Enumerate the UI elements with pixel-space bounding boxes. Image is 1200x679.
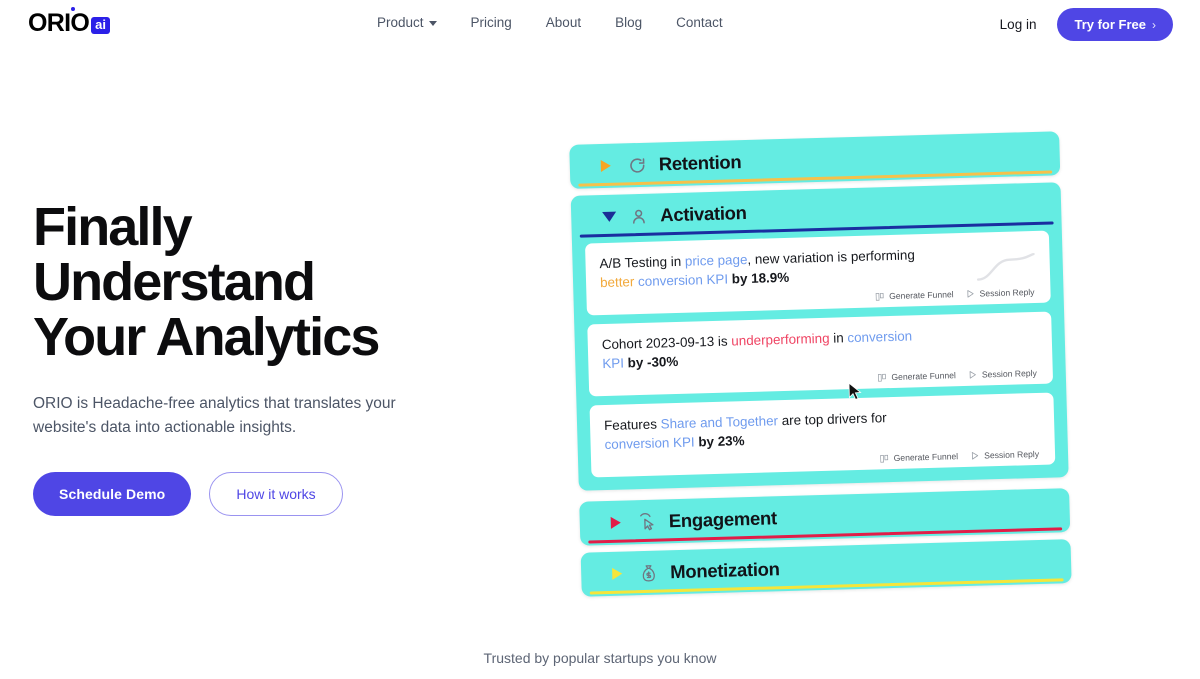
session-reply-action[interactable]: Session Reply xyxy=(969,368,1037,380)
logo-i-dot xyxy=(71,7,76,12)
generate-funnel-action[interactable]: Generate Funnel xyxy=(875,289,954,301)
cursor-click-icon xyxy=(635,511,658,534)
generate-funnel-action[interactable]: Generate Funnel xyxy=(877,370,956,382)
triangle-right-icon xyxy=(611,517,621,529)
nav-item-about[interactable]: About xyxy=(546,15,581,30)
funnel-columns-icon xyxy=(877,373,886,382)
accordion-header-retention[interactable]: Retention xyxy=(569,131,1060,189)
nav-item-product-label: Product xyxy=(377,15,424,30)
logo[interactable]: ORIO ai xyxy=(28,11,110,36)
seg-link[interactable]: Share and Together xyxy=(660,413,778,431)
headline-line-3: Your Analytics xyxy=(33,307,379,367)
seg: Features xyxy=(604,416,661,433)
trusted-by-text: Trusted by popular startups you know xyxy=(0,650,1200,666)
seg-bold: by 23% xyxy=(694,433,744,449)
top-navigation-bar: ORIO ai Product Pricing About Blog Conta… xyxy=(0,0,1200,48)
hero-left-column: Finally Understand Your Analytics ORIO i… xyxy=(33,200,513,516)
refresh-icon xyxy=(626,154,649,177)
session-reply-label: Session Reply xyxy=(982,368,1037,380)
insight-card[interactable]: Features Share and Together are top driv… xyxy=(590,393,1056,478)
generate-funnel-action[interactable]: Generate Funnel xyxy=(880,451,959,463)
accordion-title-monetization: Monetization xyxy=(670,558,780,583)
seg: A/B Testing in xyxy=(599,254,685,271)
insight-card-text: Cohort 2023-09-13 is underperforming in … xyxy=(602,327,933,373)
generate-funnel-label: Generate Funnel xyxy=(891,370,956,382)
headline-line-2: Understand xyxy=(33,252,314,312)
generate-funnel-label: Generate Funnel xyxy=(889,289,954,301)
seg-highlight: better xyxy=(600,274,635,290)
try-for-free-button[interactable]: Try for Free › xyxy=(1057,8,1173,41)
how-it-works-button[interactable]: How it works xyxy=(209,472,342,516)
triangle-right-icon xyxy=(612,568,622,580)
hero-subheading: ORIO is Headache-free analytics that tra… xyxy=(33,392,423,439)
accordion-title-retention: Retention xyxy=(659,151,742,175)
accordion-title-engagement: Engagement xyxy=(668,507,777,532)
nav-item-blog[interactable]: Blog xyxy=(615,15,642,30)
try-for-free-label: Try for Free xyxy=(1074,17,1146,32)
play-triangle-icon xyxy=(969,371,977,379)
insight-card-text: Features Share and Together are top driv… xyxy=(604,408,935,454)
play-triangle-icon xyxy=(971,452,979,460)
seg-bold: by -30% xyxy=(624,353,679,370)
sparkline-icon xyxy=(975,253,1036,285)
seg: Cohort 2023-09-13 is xyxy=(602,333,732,352)
triangle-right-icon xyxy=(601,160,611,172)
nav-links: Product Pricing About Blog Contact xyxy=(377,15,723,30)
seg: , new variation is performing xyxy=(747,247,915,267)
accordion-section-activation[interactable]: Activation A/B Testing in price page, ne… xyxy=(571,182,1069,491)
nav-item-contact[interactable]: Contact xyxy=(676,15,723,30)
logo-wordmark: ORIO xyxy=(28,11,89,36)
seg-bold: by 18.9% xyxy=(728,269,789,286)
insight-card[interactable]: Cohort 2023-09-13 is underperforming in … xyxy=(587,312,1053,397)
analytics-accordion-illustration: Retention Activation A/B Testing in xyxy=(569,131,1071,565)
chevron-right-icon: › xyxy=(1152,18,1156,32)
session-reply-action[interactable]: Session Reply xyxy=(971,449,1039,461)
accordion-header-monetization[interactable]: Monetization xyxy=(581,539,1072,597)
logo-ai-badge: ai xyxy=(91,17,110,34)
accordion-title-activation: Activation xyxy=(660,202,747,226)
nav-item-product[interactable]: Product xyxy=(377,15,437,30)
schedule-demo-button[interactable]: Schedule Demo xyxy=(33,472,191,516)
accordion-underline-monetization xyxy=(590,579,1064,595)
page-title: Finally Understand Your Analytics xyxy=(33,200,513,365)
nav-right-actions: Log in Try for Free › xyxy=(1000,8,1173,41)
nav-item-contact-label: Contact xyxy=(676,15,723,30)
login-link[interactable]: Log in xyxy=(1000,17,1037,32)
nav-item-pricing[interactable]: Pricing xyxy=(471,15,512,30)
insight-card[interactable]: A/B Testing in price page, new variation… xyxy=(585,231,1051,316)
session-reply-label: Session Reply xyxy=(984,449,1039,461)
seg-highlight: underperforming xyxy=(731,331,830,349)
funnel-columns-icon xyxy=(875,292,884,301)
accordion-section-retention[interactable]: Retention xyxy=(569,131,1060,189)
session-reply-label: Session Reply xyxy=(979,287,1034,299)
seg-link[interactable]: conversion KPI xyxy=(638,271,728,289)
funnel-columns-icon xyxy=(880,454,889,463)
play-triangle-icon xyxy=(966,290,974,298)
hero-cta-row: Schedule Demo How it works xyxy=(33,472,513,516)
generate-funnel-label: Generate Funnel xyxy=(894,451,959,463)
insight-card-text: A/B Testing in price page, new variation… xyxy=(599,246,930,292)
seg-link[interactable]: price page xyxy=(685,252,748,269)
headline-line-1: Finally xyxy=(33,197,191,257)
accordion-section-engagement[interactable]: Engagement xyxy=(579,488,1070,546)
chevron-down-icon xyxy=(429,21,437,26)
seg-link[interactable]: conversion KPI xyxy=(604,434,694,452)
triangle-down-icon xyxy=(602,212,616,222)
accordion-body-activation: A/B Testing in price page, new variation… xyxy=(572,226,1069,491)
nav-item-pricing-label: Pricing xyxy=(471,15,512,30)
accordion-section-monetization[interactable]: Monetization xyxy=(581,539,1072,597)
nav-item-blog-label: Blog xyxy=(615,15,642,30)
seg: are top drivers for xyxy=(778,410,887,428)
mouse-cursor-icon xyxy=(848,382,864,402)
accordion-header-engagement[interactable]: Engagement xyxy=(579,488,1070,546)
seg: in xyxy=(829,330,847,345)
session-reply-action[interactable]: Session Reply xyxy=(966,287,1034,299)
nav-item-about-label: About xyxy=(546,15,581,30)
money-bag-icon xyxy=(637,562,660,585)
person-icon xyxy=(627,205,650,228)
